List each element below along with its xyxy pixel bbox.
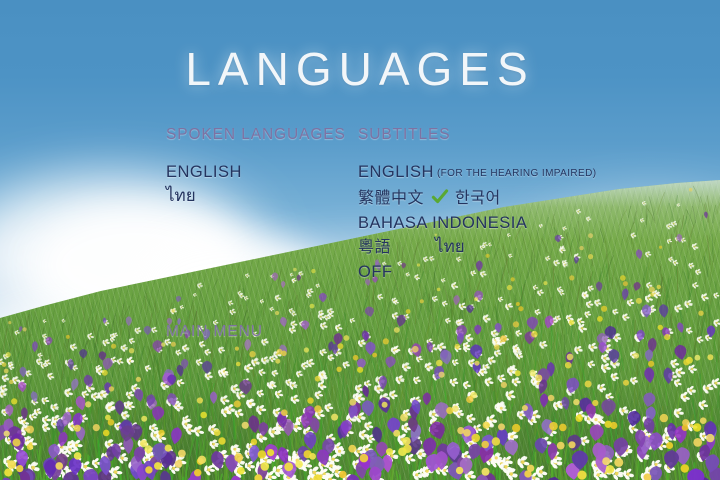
subtitle-option-english-hearing-impaired[interactable]: ENGLISH(FOR THE HEARING IMPAIRED) (358, 160, 658, 186)
subtitle-option-note: (FOR THE HEARING IMPAIRED) (437, 168, 596, 179)
subtitle-option-label-traditional-chinese: 繁體中文 (358, 190, 424, 207)
spoken-option-english[interactable]: ENGLISH (166, 160, 356, 184)
green-check-icon (431, 188, 449, 206)
spoken-languages-column: SPOKEN LANGUAGES ENGLISH ไทย (166, 126, 356, 208)
spoken-option-label: ไทย (166, 186, 196, 205)
subtitle-option-label: ENGLISH (358, 163, 434, 181)
spoken-option-thai[interactable]: ไทย (166, 184, 356, 208)
subtitles-header: SUBTITLES (358, 126, 658, 144)
subtitle-option-row-chinese-korean[interactable]: 繁體中文한국어 (358, 186, 658, 211)
subtitle-option-label: BAHASA INDONESIA (358, 214, 527, 232)
main-menu-button[interactable]: MAIN MENU (166, 322, 263, 342)
subtitle-option-off[interactable]: OFF (358, 260, 658, 284)
subtitle-option-row-cantonese-thai[interactable]: 粵語ไทย (358, 235, 658, 260)
subtitle-option-bahasa-indonesia[interactable]: BAHASA INDONESIA (358, 211, 658, 235)
subtitle-option-label-korean[interactable]: 한국어 (455, 190, 501, 207)
page-title: LANGUAGES (0, 46, 720, 92)
subtitle-option-label-thai[interactable]: ไทย (435, 235, 465, 259)
dvd-language-menu-screen: LANGUAGES SPOKEN LANGUAGES ENGLISH ไทย S… (0, 0, 720, 480)
subtitles-column: SUBTITLES ENGLISH(FOR THE HEARING IMPAIR… (358, 126, 658, 284)
spoken-option-label: ENGLISH (166, 163, 242, 181)
subtitle-option-label: OFF (358, 263, 393, 281)
spoken-languages-header: SPOKEN LANGUAGES (166, 126, 356, 144)
subtitle-option-label-cantonese: 粵語 (358, 239, 391, 256)
